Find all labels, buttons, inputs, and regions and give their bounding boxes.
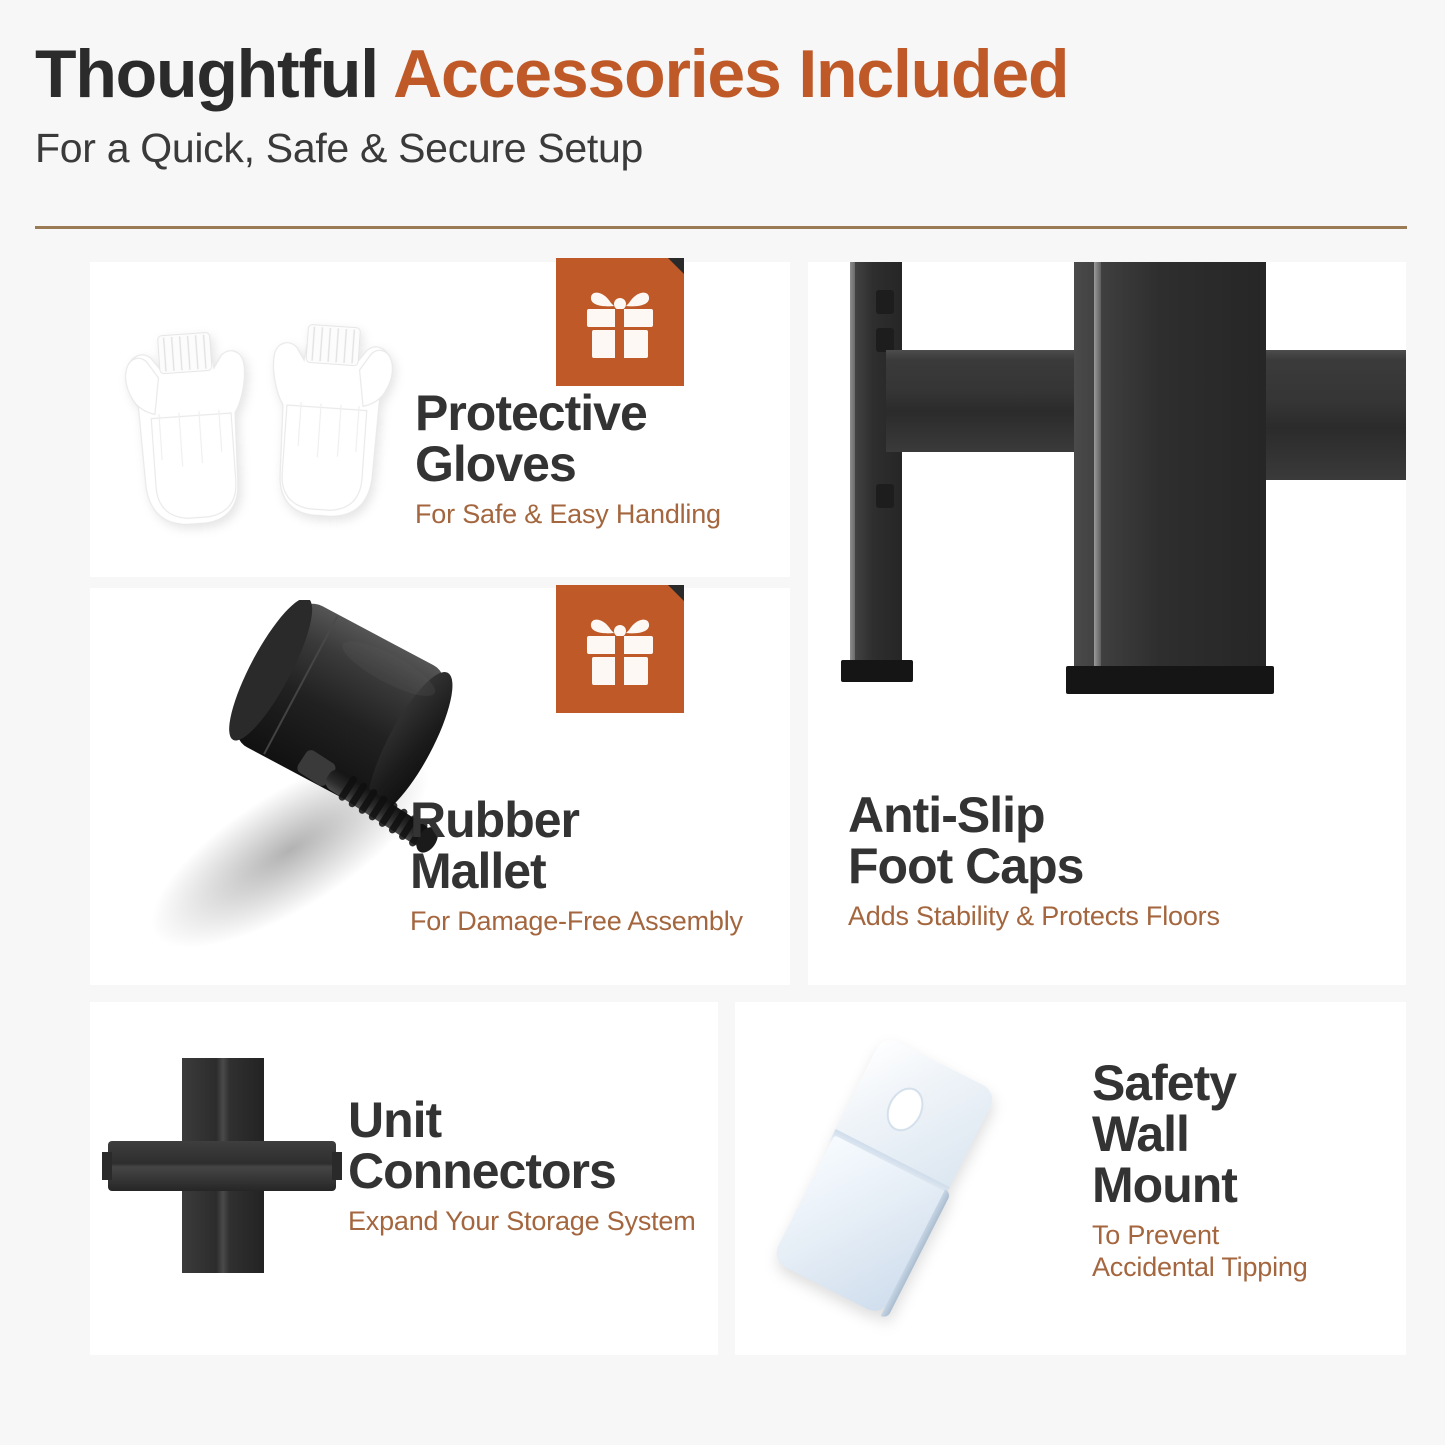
unit-connector-image	[108, 1058, 336, 1273]
page-title-part2: Accessories Included	[393, 36, 1068, 112]
shelf-slab-top-face	[886, 350, 1086, 360]
wall-mount-image	[790, 1040, 1050, 1320]
foot-cap-back-left	[841, 660, 913, 682]
shelf-slab-top-face	[1260, 350, 1406, 360]
gift-box-icon	[581, 284, 659, 360]
page-subtitle: For a Quick, Safe & Secure Setup	[35, 125, 1410, 172]
wall-mount-bracket-icon	[770, 1035, 998, 1316]
card-subtitle-anti-slip-foot-caps: Adds Stability & Protects Floors	[848, 901, 1248, 933]
card-title-safety-wall-mount: Safety Wall Mount	[1092, 1058, 1332, 1211]
post-highlight-edge	[1094, 262, 1101, 674]
text-rubber-mallet: Rubber Mallet For Damage-Free Assembly	[410, 795, 765, 938]
shelf-post-back-left	[850, 262, 902, 664]
card-subtitle-safety-wall-mount: To Prevent Accidental Tipping	[1092, 1220, 1332, 1284]
glove-right-icon	[258, 296, 400, 544]
gift-box-icon	[581, 611, 659, 687]
text-safety-wall-mount: Safety Wall Mount To Prevent Accidental …	[1092, 1058, 1332, 1284]
connector-horizontal-arm	[108, 1141, 336, 1191]
infographic-page: Thoughtful Accessories Included For a Qu…	[0, 0, 1445, 1445]
shelf-post-front	[1074, 262, 1266, 674]
card-title-unit-connectors: Unit Connectors	[348, 1095, 700, 1197]
card-title-protective-gloves: Protective Gloves	[415, 388, 735, 490]
shelf-slab-left	[886, 350, 1086, 452]
card-title-rubber-mallet: Rubber Mallet	[410, 795, 765, 897]
foot-caps-image	[808, 262, 1406, 782]
header-divider	[35, 226, 1407, 229]
shelf-slab-right	[1260, 350, 1406, 480]
gloves-image	[120, 292, 410, 554]
foot-cap-front	[1066, 666, 1274, 694]
page-title: Thoughtful Accessories Included	[35, 40, 1410, 109]
gift-badge-mallet	[556, 585, 684, 713]
gift-badge-gloves	[556, 258, 684, 386]
header: Thoughtful Accessories Included For a Qu…	[35, 40, 1410, 172]
post-highlight-edge	[850, 262, 855, 664]
connector-end-cap-left	[102, 1152, 112, 1180]
text-anti-slip-foot-caps: Anti-Slip Foot Caps Adds Stability & Pro…	[848, 790, 1248, 933]
gift-badge-fold-corner	[668, 585, 684, 601]
text-protective-gloves: Protective Gloves For Safe & Easy Handli…	[415, 388, 735, 531]
text-unit-connectors: Unit Connectors Expand Your Storage Syst…	[348, 1095, 700, 1238]
card-subtitle-rubber-mallet: For Damage-Free Assembly	[410, 906, 765, 938]
card-subtitle-protective-gloves: For Safe & Easy Handling	[415, 499, 735, 531]
gift-badge-fold-corner	[668, 258, 684, 274]
card-title-anti-slip-foot-caps: Anti-Slip Foot Caps	[848, 790, 1248, 892]
connector-end-cap-right	[332, 1152, 342, 1180]
card-subtitle-unit-connectors: Expand Your Storage System	[348, 1206, 700, 1238]
glove-left-icon	[118, 304, 260, 552]
page-title-part1: Thoughtful	[35, 36, 393, 112]
